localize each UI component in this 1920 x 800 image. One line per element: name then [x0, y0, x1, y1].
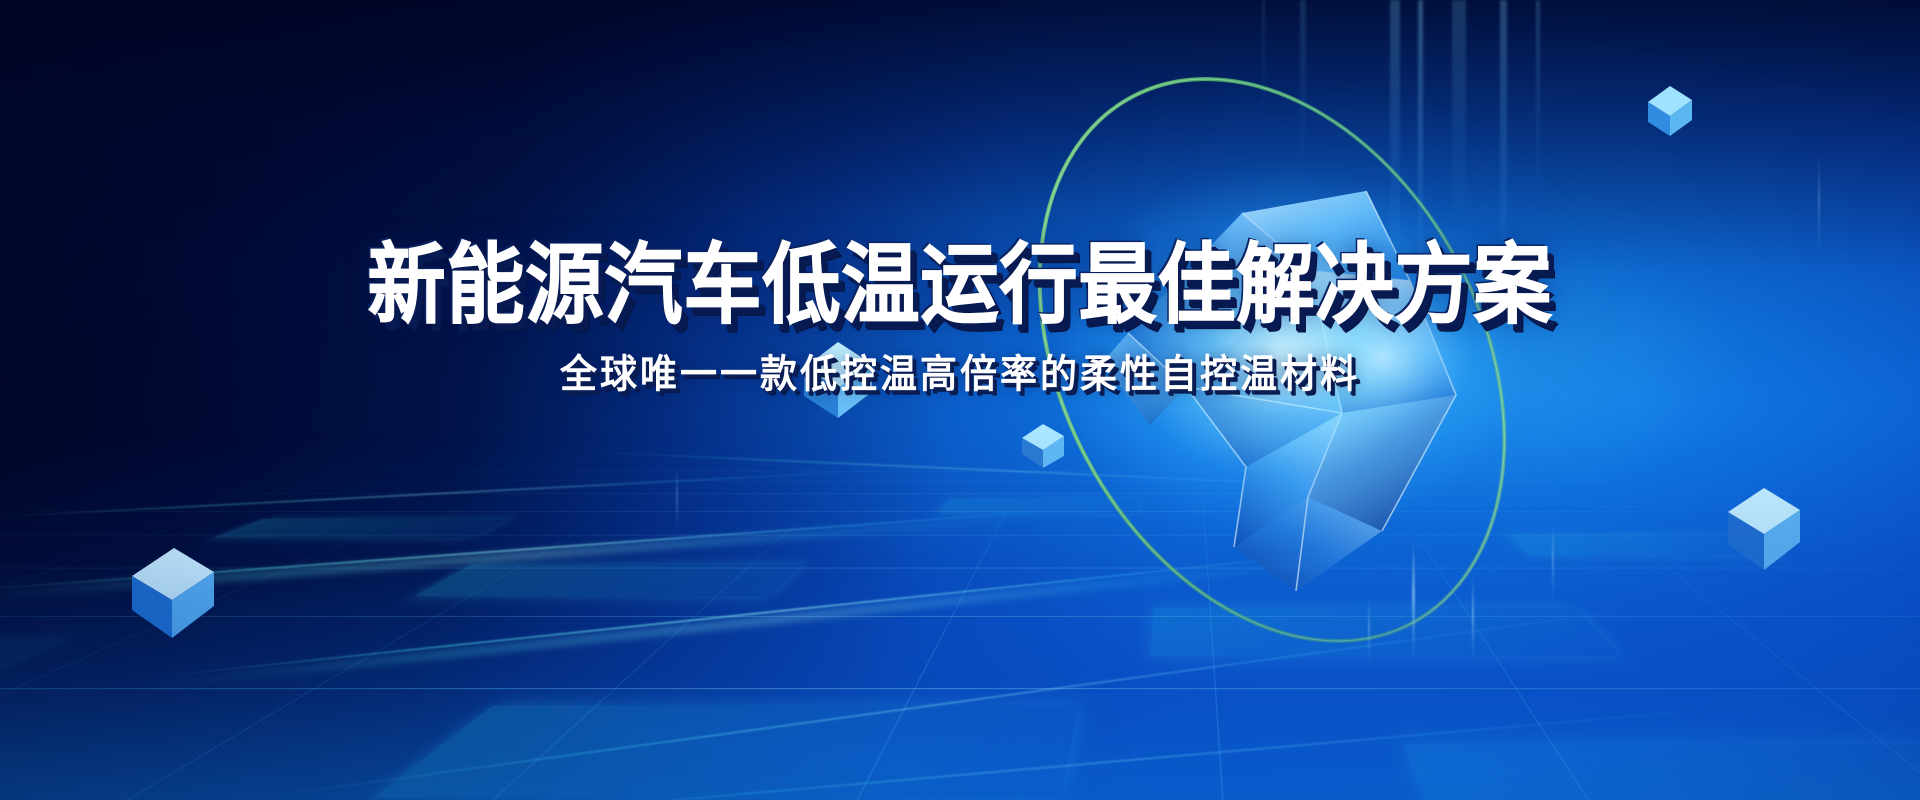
page-title: 新能源汽车低温运行最佳解决方案	[0, 241, 1920, 332]
page-subtitle: 全球唯一一款低控温高倍率的柔性自控温材料	[0, 352, 1920, 399]
cube-icon	[1638, 78, 1702, 142]
hero-text-block: 新能源汽车低温运行最佳解决方案 全球唯一一款低控温高倍率的柔性自控温材料	[0, 246, 1920, 398]
hero-banner: 新能源汽车低温运行最佳解决方案 全球唯一一款低控温高倍率的柔性自控温材料	[0, 0, 1920, 800]
